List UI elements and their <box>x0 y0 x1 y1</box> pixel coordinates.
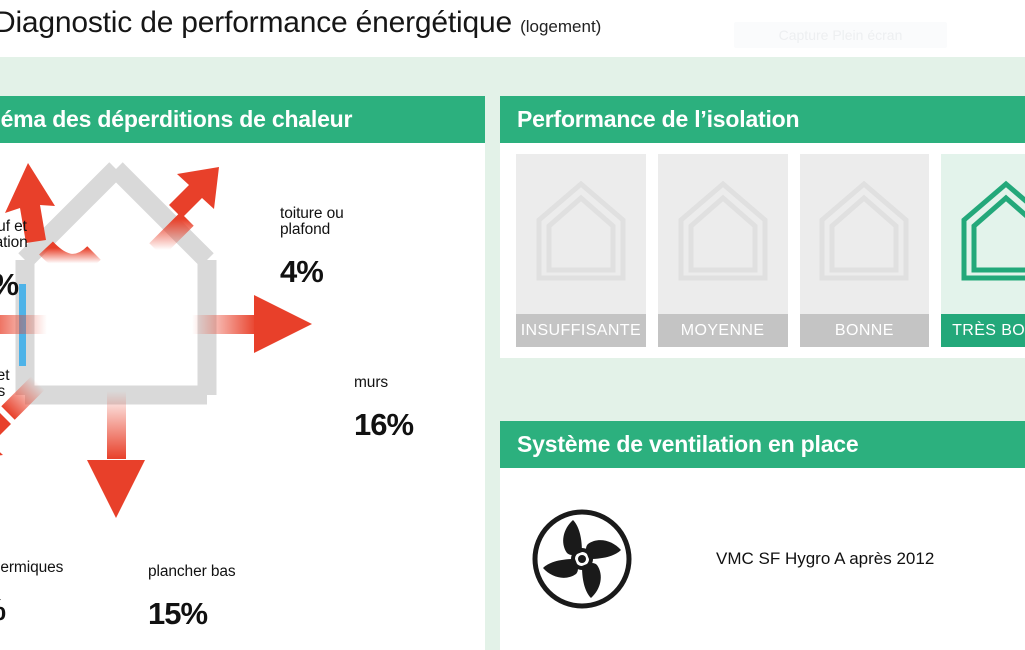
ventilation-card: Système de ventilation en place <box>500 421 1025 650</box>
label-value: 15% <box>148 598 236 631</box>
heat-loss-title: Schéma des déperditions de chaleur <box>0 96 485 143</box>
document-root: Diagnostic de performance énergétique (l… <box>0 0 1025 650</box>
label-value: 16% <box>354 409 413 442</box>
arrow-down-icon <box>87 391 145 518</box>
house-insulation-icon <box>516 176 646 286</box>
insulation-caption: MOYENNE <box>658 314 788 347</box>
house-insulation-icon <box>941 176 1025 286</box>
label-text: air neuf et ventilation <box>0 219 28 252</box>
heat-loss-diagram: air neuf et ventilation 48% toiture ou p… <box>0 143 485 650</box>
heat-loss-label-ouvertures: portes et fenêtres 7% <box>0 351 9 467</box>
ventilation-body: VMC SF Hygro A après 2012 <box>500 468 1025 650</box>
insulation-card: Performance de l’isolation INSUFFISANTE <box>500 96 1025 358</box>
insulation-level-bonne[interactable]: BONNE <box>800 154 930 347</box>
label-value: 48% <box>0 269 28 302</box>
house-insulation-icon <box>658 176 788 286</box>
heat-loss-label-ventilation: air neuf et ventilation 48% <box>0 202 28 318</box>
label-text: toiture ou plafond <box>280 206 344 239</box>
house-insulation-icon <box>800 176 930 286</box>
heat-loss-card: Schéma des déperditions de chaleur <box>0 96 485 650</box>
ventilation-title: Système de ventilation en place <box>500 421 1025 468</box>
heat-loss-label-ponts-thermiques: ponts thermiques 10% <box>0 543 63 643</box>
capture-fullscreen-button[interactable]: Capture Plein écran <box>734 22 947 48</box>
insulation-level-tres-bonne[interactable]: TRÈS BONNE <box>941 154 1025 347</box>
label-text: ponts thermiques <box>0 560 63 576</box>
label-value: 4% <box>280 256 344 289</box>
label-text: murs <box>354 375 413 391</box>
insulation-caption: INSUFFISANTE <box>516 314 646 347</box>
fan-icon <box>530 507 634 611</box>
page-title-suffix: (logement) <box>520 17 601 36</box>
heat-loss-label-toiture: toiture ou plafond 4% <box>280 189 344 305</box>
label-value: 7% <box>0 418 9 451</box>
label-value: 10% <box>0 594 63 627</box>
insulation-level-moyenne[interactable]: MOYENNE <box>658 154 788 347</box>
heat-loss-label-plancher-bas: plancher bas 15% <box>148 547 236 647</box>
insulation-level-insuffisante[interactable]: INSUFFISANTE <box>516 154 646 347</box>
insulation-levels: INSUFFISANTE MOYENNE <box>500 143 1025 347</box>
ventilation-system-value: VMC SF Hygro A après 2012 <box>716 549 934 569</box>
insulation-title: Performance de l’isolation <box>500 96 1025 143</box>
page-body: Schéma des déperditions de chaleur <box>0 57 1025 650</box>
label-text: plancher bas <box>148 564 236 580</box>
page-viewport: Diagnostic de performance énergétique (l… <box>0 0 1025 650</box>
page-header: Diagnostic de performance énergétique (l… <box>0 0 1025 57</box>
insulation-caption: BONNE <box>800 314 930 347</box>
heat-loss-label-murs: murs 16% <box>354 358 413 458</box>
page-title: Diagnostic de performance énergétique (l… <box>0 6 601 40</box>
label-text: portes et fenêtres <box>0 368 9 401</box>
page-title-text: Diagnostic de performance énergétique <box>0 6 512 39</box>
insulation-caption: TRÈS BONNE <box>941 314 1025 347</box>
